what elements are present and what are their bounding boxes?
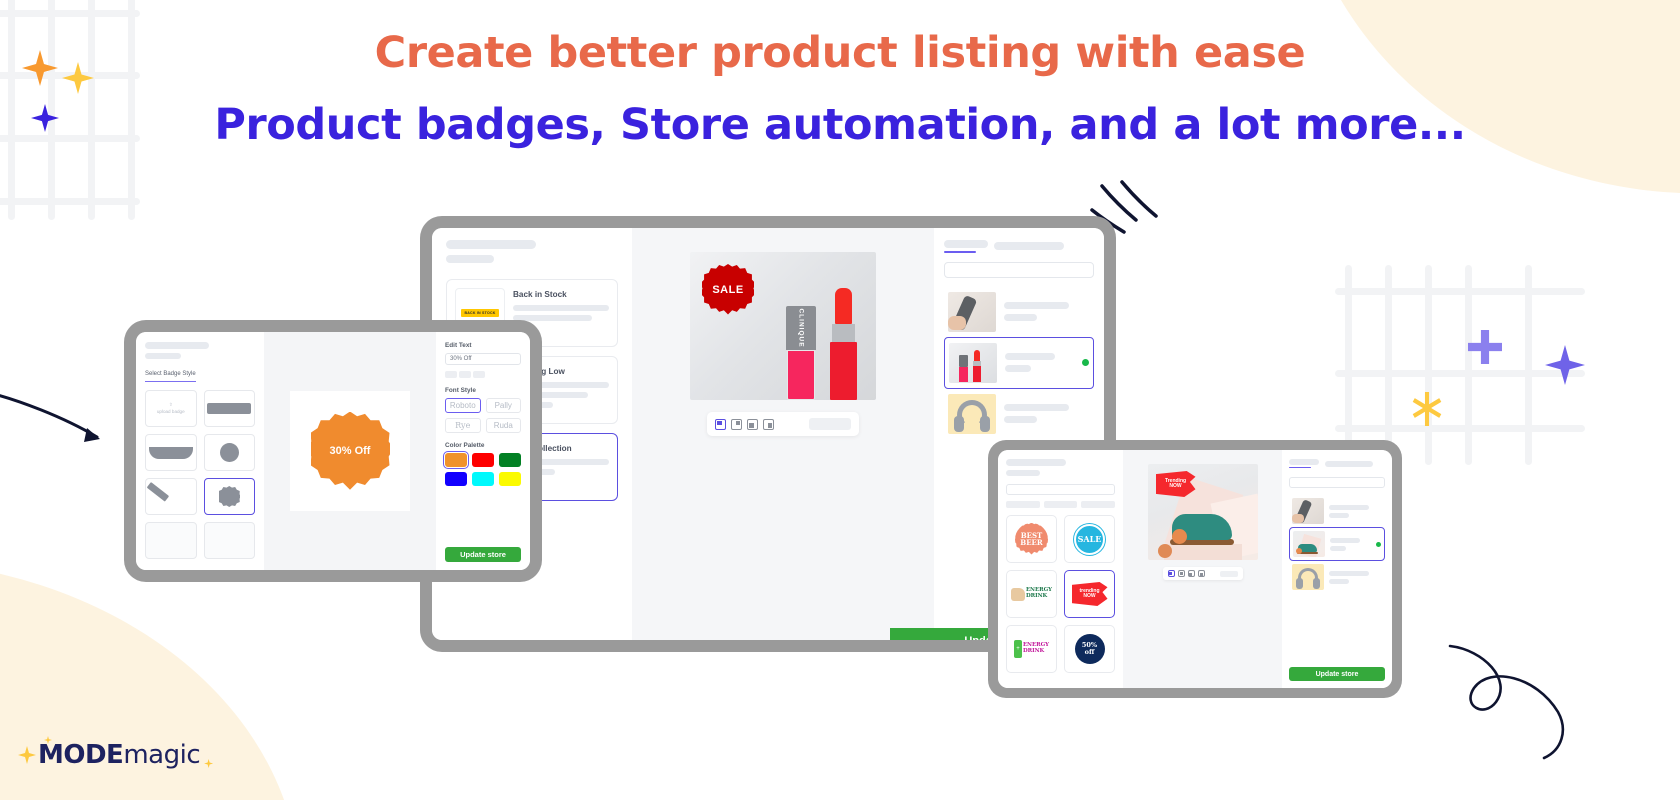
- badge-style-upload[interactable]: ⇧ upload badge: [145, 390, 197, 427]
- badge-style-starburst[interactable]: [204, 478, 256, 515]
- headline-block: Create better product listing with ease …: [0, 28, 1680, 150]
- product-thumb-headphones: [1292, 564, 1324, 590]
- font-option-rye[interactable]: Rye: [445, 418, 481, 433]
- product-row-shoe-right[interactable]: [1289, 527, 1385, 561]
- product-row-lipstick[interactable]: [944, 337, 1094, 389]
- badge-preview-30-off: 30% Off: [311, 412, 390, 491]
- badge-preview-canvas: 30% Off: [264, 332, 436, 570]
- logo-sparkle-large-icon: [18, 746, 36, 764]
- badge-style-grid: ⇧ upload badge: [145, 390, 255, 559]
- swatch-orange[interactable]: [445, 453, 467, 467]
- edit-text-label: Edit Text: [445, 342, 521, 349]
- tablet-mockup-right: BEST BEER SALE ENERGY: [988, 440, 1402, 698]
- product-image-lipstick: SALE CLINIQUE: [690, 252, 876, 400]
- gallery-badge-sale[interactable]: SALE: [1064, 515, 1115, 563]
- position-bottom-right-icon[interactable]: [763, 419, 774, 430]
- color-palette-label: Color Palette: [445, 442, 521, 449]
- back-in-stock-badge: BACK IN STOCK: [461, 309, 498, 317]
- badge-position-toolbar[interactable]: [707, 412, 859, 436]
- product-thumb-headphones: [948, 394, 996, 434]
- toolbar-placeholder[interactable]: [809, 418, 851, 430]
- select-badge-style-label: Select Badge Style: [145, 371, 196, 382]
- badge-style-bar[interactable]: [204, 390, 256, 427]
- energy-arm-line2: DRINK: [1026, 594, 1052, 600]
- color-palette-grid: [445, 453, 521, 486]
- brand-logo: MODEmagic: [18, 740, 213, 770]
- trending-now-overlay-badge: Trending NOW: [1156, 471, 1196, 497]
- product-row-headphones[interactable]: [944, 389, 1094, 439]
- flex-arm-icon: [1011, 588, 1025, 601]
- badge-style-circle[interactable]: [204, 434, 256, 471]
- asterisk-yellow-icon: [1410, 392, 1444, 426]
- fifty-off-line2: off: [1085, 649, 1095, 656]
- arrow-left-decoration: [0, 390, 122, 450]
- position-bottom-right-icon[interactable]: [1198, 570, 1205, 577]
- badge-filter-chips[interactable]: [1006, 501, 1115, 508]
- overlay-line2: NOW: [1169, 484, 1181, 490]
- text-format-controls[interactable]: [445, 371, 521, 378]
- plus-sparkle-icon: [1468, 330, 1502, 364]
- badge-style-empty-2[interactable]: [204, 522, 256, 559]
- panel-tabs-right[interactable]: [1289, 459, 1385, 468]
- lipstick-tube: [830, 288, 857, 400]
- upload-icon: ⇧: [157, 402, 185, 409]
- product-thumb-shoe: [1293, 531, 1325, 557]
- product-thumb-remote: [948, 292, 996, 332]
- gallery-badge-50-off[interactable]: 50% off: [1064, 625, 1115, 673]
- trending-line2: NOW: [1083, 594, 1095, 600]
- gallery-badge-trending-now[interactable]: trending NOW: [1064, 570, 1115, 618]
- swatch-green[interactable]: [499, 453, 521, 467]
- gallery-badge-best-beer[interactable]: BEST BEER: [1006, 515, 1057, 563]
- promo-banner: Create better product listing with ease …: [0, 0, 1680, 800]
- logo-sparkle-trailing-icon: [204, 759, 213, 768]
- badge-style-ribbon[interactable]: [145, 434, 197, 471]
- product-active-status-dot-right: [1376, 542, 1381, 547]
- font-option-roboto[interactable]: Roboto: [445, 398, 481, 413]
- product-selector-panel-right: Update store: [1282, 450, 1392, 688]
- starburst-shape-icon: [219, 486, 240, 507]
- headline-secondary: Product badges, Store automation, and a …: [0, 100, 1680, 150]
- product-row-remote-right[interactable]: [1289, 495, 1385, 527]
- position-top-left-icon[interactable]: [1168, 570, 1175, 577]
- gallery-badge-energy-arm[interactable]: ENERGY DRINK: [1006, 570, 1057, 618]
- shoe-preview-panel: Trending NOW: [1123, 450, 1282, 688]
- position-top-right-icon[interactable]: [1178, 570, 1185, 577]
- circle-shape-icon: [220, 443, 239, 462]
- product-search-input-right[interactable]: [1289, 477, 1385, 488]
- sparkle-periwinkle-icon: [1545, 345, 1585, 385]
- swatch-red[interactable]: [472, 453, 494, 467]
- upload-badge-label: upload badge: [157, 409, 185, 416]
- logo-text: MODEmagic: [38, 740, 200, 770]
- app-screen-right: BEST BEER SALE ENERGY: [998, 450, 1392, 688]
- update-store-button-left[interactable]: Update store: [445, 547, 521, 562]
- update-store-button-right[interactable]: Update store: [1289, 667, 1385, 681]
- lipgloss-bottle: CLINIQUE: [786, 306, 816, 400]
- product-preview-panel: SALE CLINIQUE: [632, 228, 934, 640]
- bar-shape-icon: [207, 403, 251, 414]
- badge-style-panel: Select Badge Style ⇧ upload badge: [136, 332, 264, 570]
- product-search-input[interactable]: [944, 262, 1094, 278]
- app-screen-left: Select Badge Style ⇧ upload badge: [136, 332, 530, 570]
- product-active-status-dot: [1082, 359, 1089, 366]
- sale-badge-overlay: SALE: [702, 264, 754, 316]
- font-style-label: Font Style: [445, 387, 521, 394]
- badge-search-input[interactable]: [1006, 484, 1115, 495]
- badge-settings-panel: Edit Text 30% Off Font Style Roboto Pall…: [436, 332, 530, 570]
- best-beer-line2: BEER: [1020, 539, 1042, 546]
- template-title: Back in Stock: [513, 290, 609, 299]
- logo-text-light: magic: [123, 740, 200, 770]
- font-option-pally[interactable]: Pally: [486, 398, 522, 413]
- font-style-grid: Roboto Pally Rye Ruda: [445, 398, 521, 433]
- position-top-left-icon[interactable]: [715, 419, 726, 430]
- can-icon: +: [1014, 640, 1022, 658]
- headline-primary: Create better product listing with ease: [0, 28, 1680, 78]
- position-top-right-icon[interactable]: [731, 419, 742, 430]
- tablet-mockup-left: Select Badge Style ⇧ upload badge: [124, 320, 542, 582]
- badge-style-corner[interactable]: [145, 478, 197, 515]
- gallery-badge-energy-can[interactable]: + ENERGY DRINK: [1006, 625, 1057, 673]
- product-row-headphones-right[interactable]: [1289, 561, 1385, 593]
- product-thumb-remote: [1292, 498, 1324, 524]
- position-bottom-left-icon[interactable]: [747, 419, 758, 430]
- ribbon-shape-icon: [149, 447, 193, 459]
- brand-label: CLINIQUE: [798, 308, 805, 347]
- badge-position-toolbar-right[interactable]: [1163, 567, 1243, 580]
- squiggle-bottom-right-decoration: [1440, 640, 1590, 770]
- product-thumb-lipstick: [949, 343, 997, 383]
- badge-style-empty-1[interactable]: [145, 522, 197, 559]
- panel-tabs[interactable]: [944, 240, 1094, 253]
- swatch-cyan[interactable]: [472, 472, 494, 486]
- logo-text-bold: MODE: [38, 740, 123, 770]
- font-option-ruda[interactable]: Ruda: [486, 418, 522, 433]
- badge-text-input[interactable]: 30% Off: [445, 353, 521, 365]
- badge-gallery-grid: BEST BEER SALE ENERGY: [1006, 515, 1115, 673]
- product-image-shoe: Trending NOW: [1148, 464, 1258, 560]
- swatch-blue[interactable]: [445, 472, 467, 486]
- badge-gallery-panel: BEST BEER SALE ENERGY: [998, 450, 1123, 688]
- toolbar-placeholder[interactable]: [1220, 571, 1238, 577]
- sale-badge-label: SALE: [1074, 524, 1105, 555]
- swatch-yellow[interactable]: [499, 472, 521, 486]
- energy-can-line2: DRINK: [1023, 649, 1049, 655]
- position-bottom-left-icon[interactable]: [1188, 570, 1195, 577]
- product-row-remote[interactable]: [944, 287, 1094, 337]
- corner-shape-icon: [151, 482, 191, 512]
